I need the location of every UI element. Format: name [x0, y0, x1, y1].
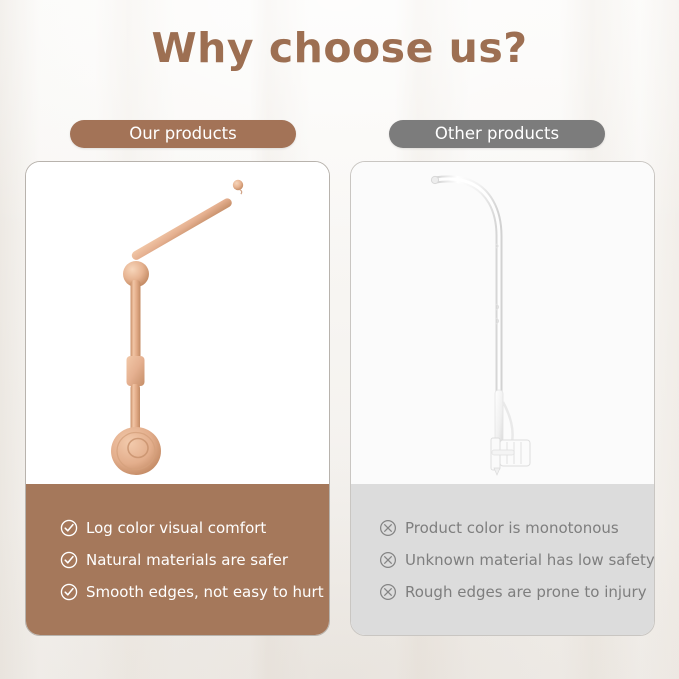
list-item-label: Rough edges are prone to injury — [405, 583, 647, 601]
list-item: Natural materials are safer — [26, 544, 329, 576]
circle-check-icon — [60, 551, 78, 569]
circle-cross-icon — [379, 519, 397, 537]
circle-check-icon — [60, 519, 78, 537]
list-item: Rough edges are prone to injury — [351, 576, 654, 608]
infographic-canvas: Why choose us? Our products Other produc… — [0, 0, 679, 679]
list-item-label: Smooth edges, not easy to hurt — [86, 583, 324, 601]
list-item: Smooth edges, not easy to hurt — [26, 576, 329, 608]
list-item: Unknown material has low safety — [351, 544, 654, 576]
list-item-label: Log color visual comfort — [86, 519, 266, 537]
list-item: Product color is monotonous — [351, 512, 654, 544]
white-plastic-mobile-arm-icon — [351, 162, 654, 484]
benefits-panel: Log color visual comfort Natural materia… — [26, 484, 329, 635]
list-item-label: Product color is monotonous — [405, 519, 619, 537]
drawbacks-panel: Product color is monotonous Unknown mate… — [351, 484, 654, 635]
product-photo-other — [351, 162, 654, 484]
benefits-list: Log color visual comfort Natural materia… — [26, 512, 329, 608]
page-title: Why choose us? — [0, 24, 679, 72]
list-item-label: Unknown material has low safety — [405, 551, 655, 569]
comparison-card-our-products: Log color visual comfort Natural materia… — [25, 161, 330, 636]
product-photo-ours — [26, 162, 329, 484]
list-item: Log color visual comfort — [26, 512, 329, 544]
drawbacks-list: Product color is monotonous Unknown mate… — [351, 512, 654, 608]
header-pill-other-products: Other products — [389, 120, 605, 148]
list-item-label: Natural materials are safer — [86, 551, 288, 569]
circle-cross-icon — [379, 583, 397, 601]
wooden-crib-mobile-arm-icon — [26, 162, 329, 484]
circle-check-icon — [60, 583, 78, 601]
comparison-card-other-products: Product color is monotonous Unknown mate… — [350, 161, 655, 636]
circle-cross-icon — [379, 551, 397, 569]
header-pill-our-products: Our products — [70, 120, 296, 148]
